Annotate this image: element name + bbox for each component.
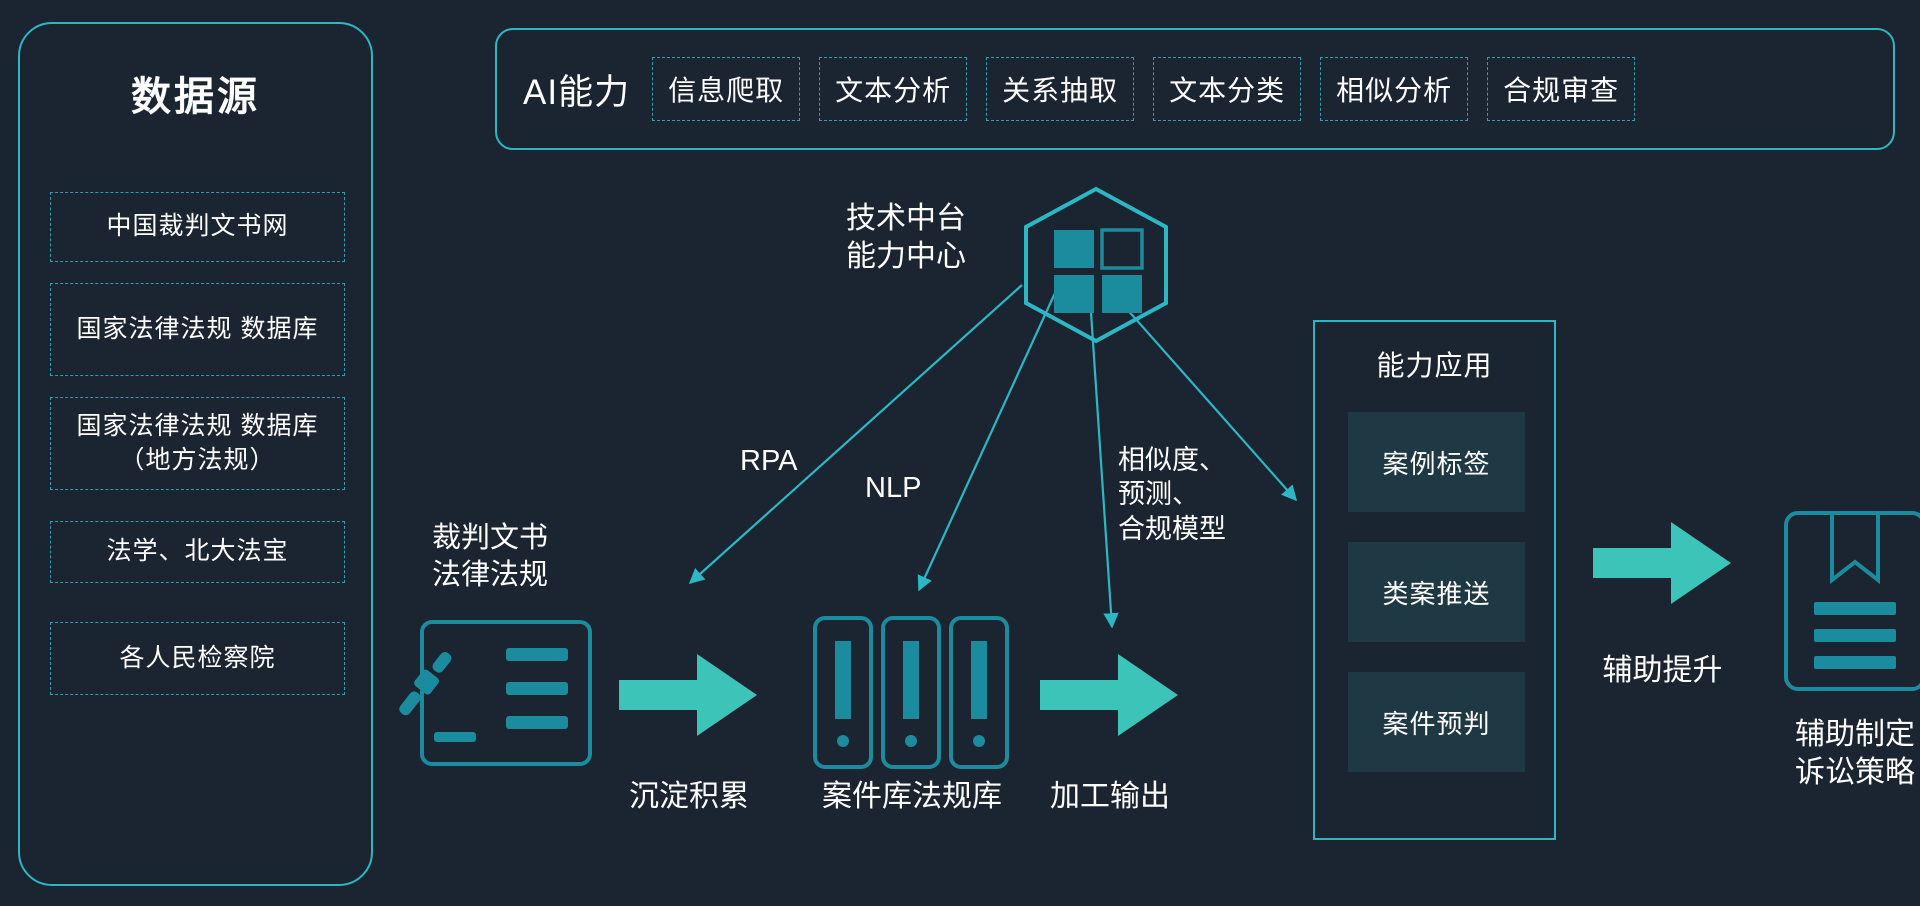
capability-item-label: 案件预判	[1382, 704, 1490, 741]
capability-panel-title: 能力应用	[1315, 344, 1554, 384]
datasource-item-label: 法学、北大法宝	[106, 535, 288, 568]
connector-process-line	[1090, 297, 1112, 627]
block-arrow-right-icon-1	[619, 650, 759, 740]
source-label: 裁判文书 法律法规	[432, 520, 548, 594]
connector-label-similarity-model: 相似度、 预测、 合规模型	[1118, 443, 1226, 546]
datasource-title: 数据源	[20, 64, 371, 122]
connector-label-nlp: NLP	[865, 470, 921, 507]
datasource-item-2[interactable]: 国家法律法规 数据库（地方法规）	[50, 397, 345, 490]
ai-capability-bar: AI能力 信息爬取 文本分析 关系抽取 文本分类 相似分析 合规审查	[495, 28, 1895, 150]
datasource-item-label: 中国裁判文书网	[106, 210, 288, 243]
capability-application-panel: 能力应用 案例标签 类案推送 案件预判	[1313, 320, 1556, 840]
capability-item-similar-case-push[interactable]: 类案推送	[1348, 542, 1525, 642]
block-arrow-right-icon-3	[1593, 518, 1733, 608]
connector-rpa-line	[690, 285, 1022, 583]
datasource-item-3[interactable]: 法学、北大法宝	[50, 521, 345, 583]
datasource-item-label: 各人民检察院	[119, 642, 275, 675]
datasource-item-label: 国家法律法规 数据库（地方法规）	[51, 410, 344, 477]
step1-label: 沉淀积累	[619, 778, 759, 816]
result-label: 辅助制定 诉讼策略	[1760, 716, 1920, 792]
database-servers-icon	[812, 615, 1012, 770]
ai-chip-compliance-review[interactable]: 合规审查	[1487, 57, 1635, 121]
capability-item-case-prediction[interactable]: 案件预判	[1348, 672, 1525, 772]
datasource-item-0[interactable]: 中国裁判文书网	[50, 192, 345, 262]
diagram-canvas: 数据源 中国裁判文书网 国家法律法规 数据库 国家法律法规 数据库（地方法规） …	[0, 0, 1920, 906]
gavel-document-icon	[420, 620, 592, 766]
ai-chip-info-crawl[interactable]: 信息爬取	[652, 57, 800, 121]
bookmarked-document-icon	[1783, 510, 1920, 692]
datasource-item-1[interactable]: 国家法律法规 数据库	[50, 283, 345, 376]
datasource-item-4[interactable]: 各人民检察院	[50, 622, 345, 695]
step2-label: 案件库法规库	[812, 778, 1012, 816]
capability-item-case-tag[interactable]: 案例标签	[1348, 412, 1525, 512]
connector-label-rpa: RPA	[740, 443, 797, 480]
assist-label: 辅助提升	[1585, 652, 1740, 690]
datasource-panel: 数据源 中国裁判文书网 国家法律法规 数据库 国家法律法规 数据库（地方法规） …	[18, 22, 373, 886]
step3-label: 加工输出	[1040, 778, 1180, 816]
ai-chip-relation-extraction[interactable]: 关系抽取	[986, 57, 1134, 121]
datasource-item-label: 国家法律法规 数据库	[77, 313, 319, 346]
ai-chip-text-analysis[interactable]: 文本分析	[819, 57, 967, 121]
ai-chip-text-classification[interactable]: 文本分类	[1153, 57, 1301, 121]
block-arrow-right-icon-2	[1040, 650, 1180, 740]
ai-capability-title: AI能力	[523, 64, 630, 115]
capability-item-label: 类案推送	[1382, 574, 1490, 611]
ai-chip-similarity-analysis[interactable]: 相似分析	[1320, 57, 1468, 121]
hexagon-grid-icon	[1020, 185, 1172, 345]
hub-label: 技术中台 能力中心	[846, 200, 966, 276]
capability-item-label: 案例标签	[1382, 444, 1490, 481]
